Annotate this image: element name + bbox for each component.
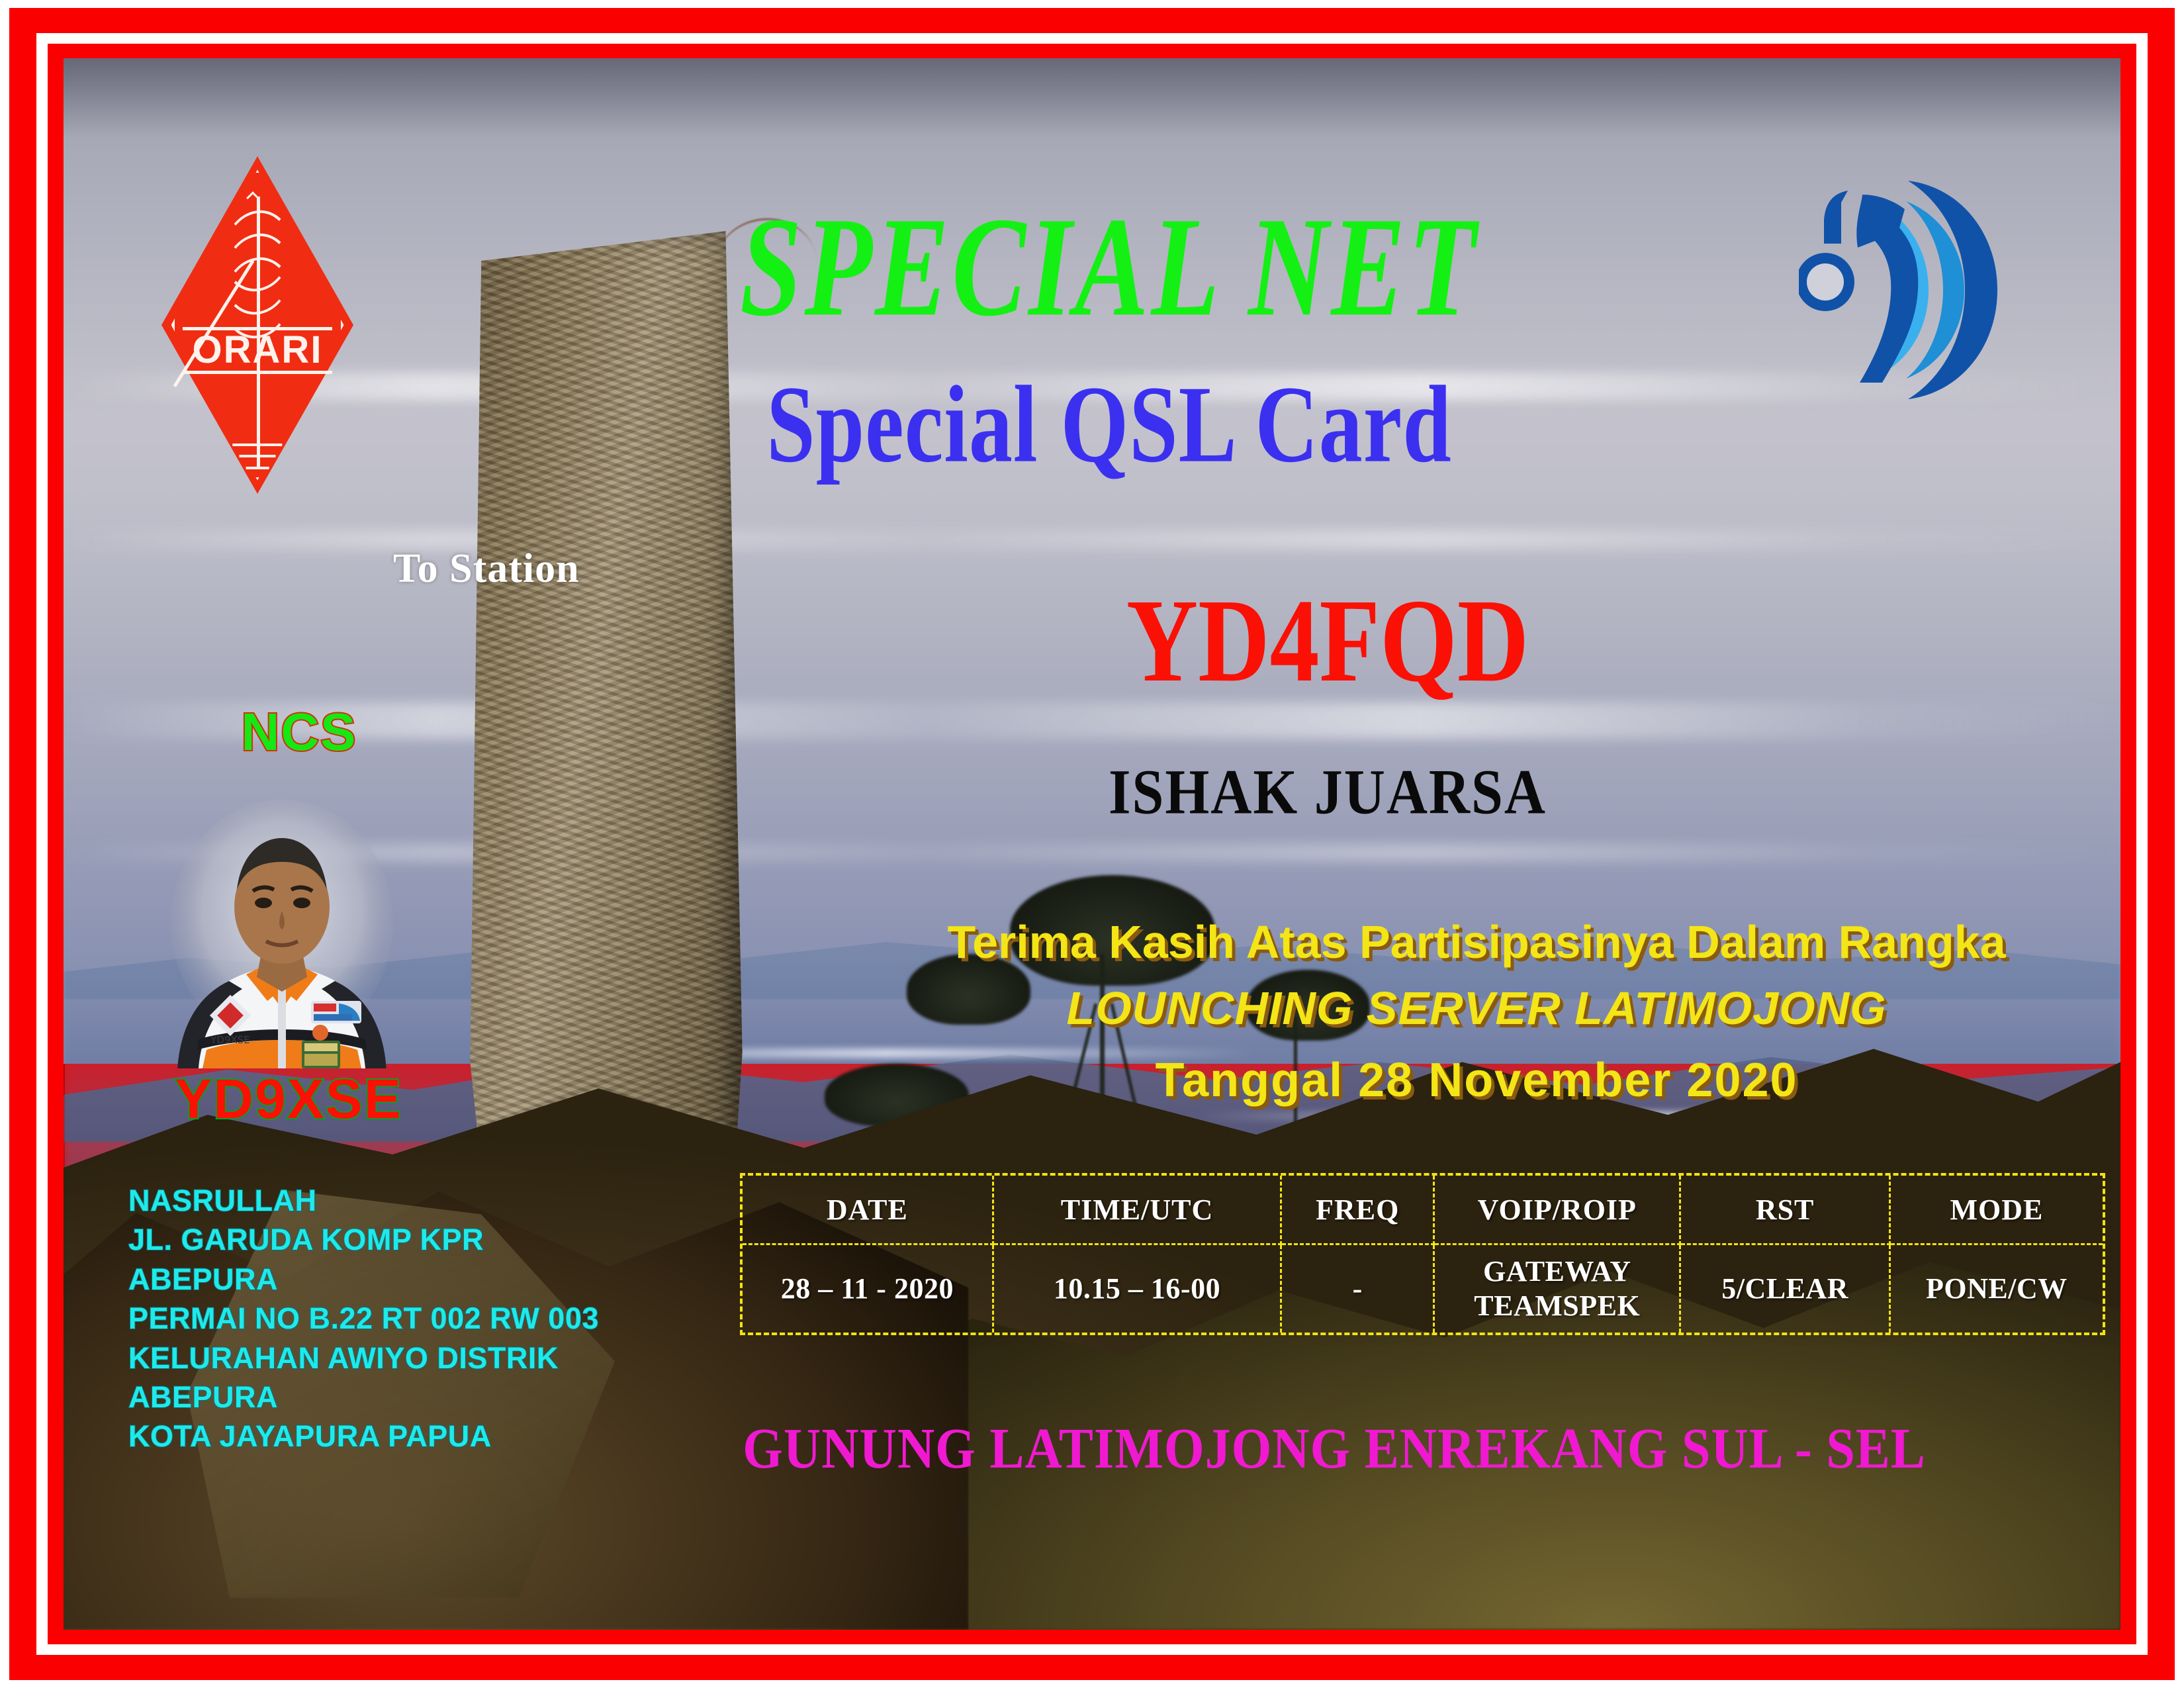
address-line: JL. GARUDA KOMP KPR — [128, 1220, 724, 1259]
table-header-rst: RST — [1681, 1176, 1890, 1245]
qsl-card: ORARI NCS — [0, 0, 2184, 1688]
table-header-voip: VOIP/ROIP — [1435, 1176, 1681, 1245]
background-photo: ORARI NCS — [64, 58, 2120, 1630]
qso-details-table: DATE TIME/UTC FREQ VOIP/ROIP RST MODE 28… — [740, 1173, 2105, 1335]
orari-ground-icon — [246, 467, 269, 469]
address-line: ABEPURA — [128, 1378, 724, 1417]
address-line: NASRULLAH — [128, 1181, 724, 1220]
page-subtitle-qsl-card: Special QSL Card — [487, 369, 1731, 479]
sender-address-block: NASRULLAH JL. GARUDA KOMP KPR ABEPURA PE… — [128, 1181, 724, 1456]
table-cell-rst: 5/CLEAR — [1681, 1245, 1890, 1333]
recipient-callsign: YD4FQD — [997, 581, 1659, 700]
address-line: PERMAI NO B.22 RT 002 RW 003 — [128, 1299, 724, 1338]
sky-dark-streak — [64, 58, 2120, 138]
table-header-freq: FREQ — [1282, 1176, 1435, 1245]
orari-logo: ORARI — [161, 156, 353, 494]
cloud-band — [64, 530, 2120, 549]
event-name: LOUNCHING SERVER LATIMOJONG — [811, 985, 2120, 1031]
operator-portrait-icon: YD9XSE — [143, 790, 421, 1068]
orari-ground-icon — [239, 455, 275, 457]
orari-rule-bottom — [183, 371, 332, 374]
address-line: KELURAHAN AWIYO DISTRIK — [128, 1338, 724, 1378]
table-cell-mode: PONE/CW — [1891, 1245, 2103, 1333]
ncs-label: NCS — [193, 702, 405, 763]
svg-text:YD9XSE: YD9XSE — [210, 1034, 250, 1046]
orari-ground-icon — [232, 444, 282, 446]
address-line: KOTA JAYAPURA PAPUA — [128, 1417, 724, 1456]
table-header-time: TIME/UTC — [994, 1176, 1283, 1245]
table-header-mode: MODE — [1891, 1176, 2103, 1245]
ncs-operator-photo: YD9XSE — [143, 790, 421, 1068]
table-cell-voip: GATEWAY TEAMSPEK — [1435, 1245, 1681, 1333]
location-line: GUNUNG LATIMOJONG ENREKANG SUL - SEL — [699, 1419, 1970, 1477]
table-cell-freq: - — [1282, 1245, 1435, 1333]
headset-face-waves-icon — [1799, 171, 2017, 409]
event-date: Tanggal 28 November 2020 — [811, 1056, 2120, 1104]
table-cell-date: 28 – 11 - 2020 — [743, 1245, 994, 1333]
address-line: ABEPURA — [128, 1260, 724, 1299]
orari-wordmark: ORARI — [161, 330, 353, 371]
web-address-text: Address : amatir.latimojong.com — [1341, 1627, 2026, 1630]
page-title-special-net: SPECIAL NET — [487, 196, 1731, 338]
table-header-date: DATE — [743, 1176, 994, 1245]
net-headset-logo — [1799, 171, 2017, 409]
table-cell-time: 10.15 – 16-00 — [994, 1245, 1283, 1333]
motto-text: "AMATIR RADIO ADALAH PROGRESIVE" — [143, 1627, 1152, 1630]
thanks-message: Terima Kasih Atas Partisipasinya Dalam R… — [811, 919, 2120, 965]
ncs-callsign: YD9XSE — [136, 1067, 441, 1131]
recipient-operator-name: ISHAK JUARSA — [944, 760, 1711, 823]
to-station-label: To Station — [393, 545, 580, 592]
